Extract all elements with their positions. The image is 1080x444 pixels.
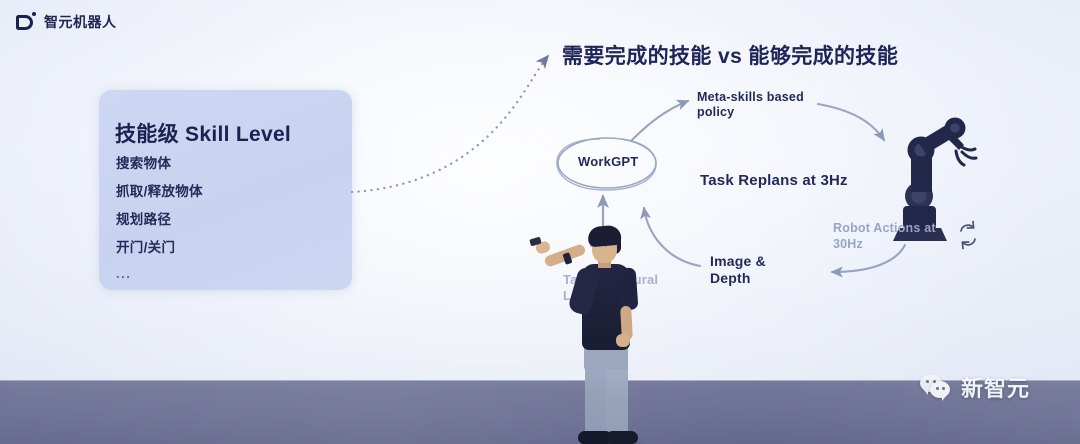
- refresh-loop-icon: [961, 222, 975, 249]
- meta-skills-label: Meta-skills based policy: [697, 90, 804, 121]
- channel-watermark: 新智元: [920, 371, 1030, 403]
- presenter-hair: [587, 225, 622, 248]
- presenter-leg-left: [606, 362, 628, 440]
- wechat-bubbles-icon: [920, 374, 954, 400]
- presenter-leg-right: [585, 362, 606, 440]
- robot-actions-label: Robot Actions at 30Hz: [833, 221, 936, 252]
- list-item-ellipsis: ...: [116, 266, 203, 281]
- skill-card-list: 搜索物体 抓取/释放物体 规划路径 开门/关门 ...: [116, 152, 203, 281]
- workgpt-node-label: WorkGPT: [578, 154, 638, 170]
- watermark-text: 新智元: [961, 371, 1030, 403]
- list-item: 规划路径: [116, 208, 203, 228]
- brand-logo: 智元机器人: [16, 12, 117, 32]
- skill-card-title: 技能级 Skill Level: [115, 118, 291, 148]
- presenter-hand-left: [616, 334, 630, 347]
- presenter-sleeve-left: [617, 267, 639, 310]
- curved-arrow-up-right-icon: [632, 101, 688, 140]
- skill-level-card: 技能级 Skill Level 搜索物体 抓取/释放物体 规划路径 开门/关门 …: [99, 90, 352, 290]
- slide-headline: 需要完成的技能 vs 能够完成的技能: [562, 40, 898, 70]
- dotted-curved-arrow-icon: [352, 56, 548, 192]
- list-item: 抓取/释放物体: [116, 180, 203, 200]
- presenter-shoe-left: [607, 431, 638, 444]
- brand-name: 智元机器人: [44, 12, 117, 32]
- list-item: 开门/关门: [116, 236, 203, 256]
- zhiyuan-d-mark-icon: [16, 12, 36, 32]
- image-depth-label: Image & Depth: [710, 253, 766, 287]
- list-item: 搜索物体: [116, 152, 203, 172]
- curved-arrow-down-icon: [818, 104, 884, 140]
- task-replans-label: Task Replans at 3Hz: [700, 172, 848, 190]
- presentation-stage: 智元机器人 技能级 Skill Level 搜索物体 抓取/释放物体 规划路径 …: [0, 0, 1080, 444]
- presenter-figure: [528, 222, 668, 444]
